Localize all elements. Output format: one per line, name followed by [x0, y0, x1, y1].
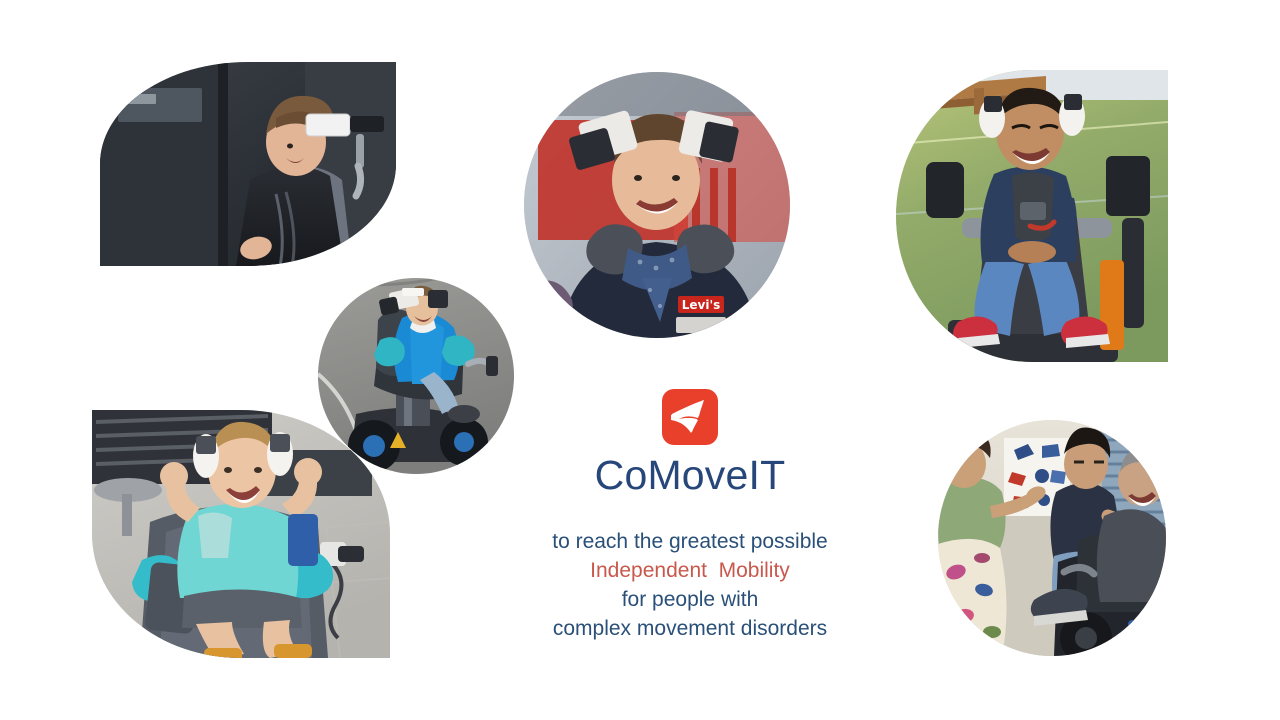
photo-bottom-right-image	[938, 420, 1166, 656]
slide-canvas: Levi's	[0, 0, 1280, 720]
brand-tagline: to reach the greatest possible Independe…	[430, 527, 950, 643]
tagline-line-3: for people with	[430, 585, 950, 614]
photo-top-right-image	[896, 70, 1168, 362]
photo-bottom-left-image	[92, 410, 390, 658]
photo-top-left	[100, 62, 396, 266]
tagline-line-2-accent: Independent Mobility	[430, 556, 950, 585]
photo-top-right	[896, 70, 1168, 362]
photo-bottom-left	[92, 410, 390, 658]
photo-top-left-image	[100, 62, 396, 266]
brand-wordmark: CoMoveIT	[430, 454, 950, 497]
photo-top-center: Levi's	[524, 72, 790, 338]
photo-bottom-right	[938, 420, 1166, 656]
photo-top-center-image: Levi's	[524, 72, 790, 338]
tagline-line-1: to reach the greatest possible	[430, 527, 950, 556]
svg-text:Levi's: Levi's	[682, 298, 721, 312]
brand-block: CoMoveIT to reach the greatest possible …	[430, 388, 950, 643]
tagline-line-4: complex movement disorders	[430, 614, 950, 643]
comoveit-logo-icon	[659, 388, 721, 448]
